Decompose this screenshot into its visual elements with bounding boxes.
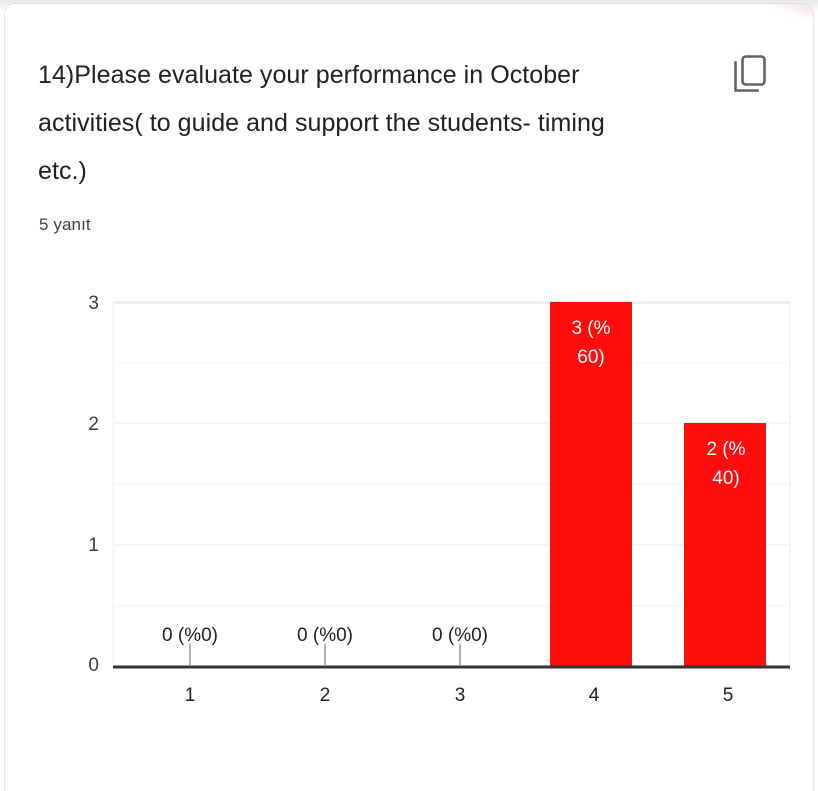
bar-data-label-5-line1: 2 (% bbox=[706, 439, 745, 460]
bar-data-label-2: 0 (%0) bbox=[297, 625, 353, 646]
y-tick-label-0: 0 bbox=[88, 655, 99, 676]
bar-data-label-1: 0 (%0) bbox=[162, 625, 218, 646]
x-tick-label-4: 4 bbox=[589, 685, 600, 706]
bar-data-label-4-line2: 60) bbox=[577, 347, 604, 368]
y-tick-label-2: 2 bbox=[88, 414, 99, 435]
x-tick-label-1: 1 bbox=[185, 685, 196, 706]
x-tick-label-3: 3 bbox=[455, 685, 466, 706]
y-tick-label-1: 1 bbox=[88, 535, 99, 556]
question-result-card: 14)Please evaluate your performance in O… bbox=[5, 4, 813, 791]
x-tick-label-5: 5 bbox=[723, 685, 734, 706]
bar-data-label-5-line2: 40) bbox=[712, 468, 739, 489]
bar-data-label-4-line1: 3 (% bbox=[571, 318, 610, 339]
x-tick-label-2: 2 bbox=[320, 685, 331, 706]
bar-data-label-3: 0 (%0) bbox=[432, 625, 488, 646]
bar-chart: 3 2 1 0 0 (%0) 0 (%0) 0 (%0) 3 (% 60) 2 … bbox=[5, 4, 813, 791]
y-tick-label-3: 3 bbox=[88, 293, 99, 314]
